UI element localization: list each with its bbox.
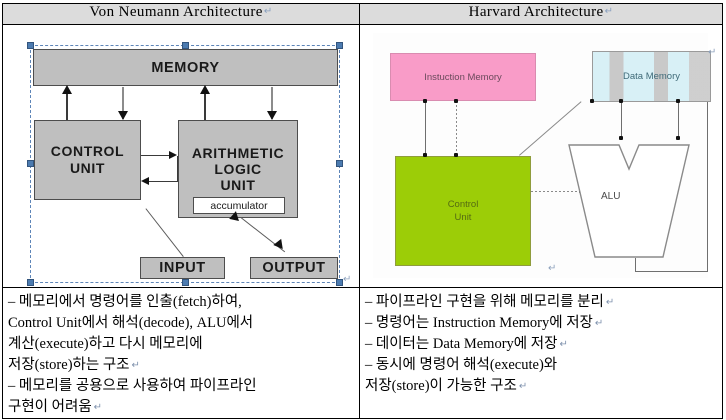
connector-dot (423, 99, 427, 103)
harvard-diagram[interactable]: Instuction Memory Data Memory Control (360, 25, 722, 286)
connector-dot (676, 99, 680, 103)
return-mark-icon: ↵ (593, 318, 603, 329)
paragraph-mark-icon: ↵ (343, 274, 351, 285)
resize-handle-nw[interactable] (27, 42, 34, 49)
control-unit-box[interactable]: Control Unit (395, 156, 531, 266)
return-mark-icon: ↵ (92, 402, 102, 413)
return-mark-icon: ↵ (517, 381, 527, 392)
description-line: – 명령어는 Instruction Memory에 저장↵ (365, 313, 718, 334)
description-text: – 메모리에서 명령어를 인출(fetch)하여, (8, 294, 242, 310)
return-mark-icon: ↵ (130, 360, 140, 371)
connector-dot (454, 153, 458, 157)
instruction-memory-box[interactable]: Instuction Memory (390, 53, 536, 101)
harvard-diagram-canvas: Instuction Memory Data Memory Control (373, 33, 708, 278)
resize-handle-se[interactable] (336, 279, 343, 286)
return-mark-icon: ↵ (557, 339, 567, 350)
description-text: 저장(store)하는 구조 (8, 357, 130, 373)
return-mark-icon (203, 339, 205, 350)
cell-von-neumann-diagram: MEMORY (3, 25, 360, 288)
bus-line-imem-to-cu-dashed (456, 101, 457, 157)
description-line: – 메모리를 공용으로 사용하여 파이프라인 (8, 376, 355, 397)
description-text: 계산(execute)하고 다시 메모리에 (8, 336, 203, 352)
header-label-von-neumann: Von Neumann Architecture (89, 4, 262, 20)
description-text: 구현이 어려움 (8, 399, 92, 415)
control-unit-label-line1: Control (448, 198, 479, 211)
resize-handle-s[interactable] (182, 279, 189, 286)
instruction-memory-label: Instuction Memory (424, 71, 502, 84)
header-label-harvard: Harvard Architecture (469, 4, 604, 20)
von-neumann-description: – 메모리에서 명령어를 인출(fetch)하여, Control Unit에서… (3, 288, 359, 418)
control-unit-label-line2: Unit (448, 211, 479, 224)
connector-dot (619, 136, 623, 140)
bus-line-dmem-feedback (707, 102, 708, 272)
paragraph-mark-icon: ↵ (548, 263, 556, 274)
return-mark-icon (557, 360, 559, 371)
description-text: – 명령어는 Instruction Memory에 저장 (365, 315, 593, 331)
description-text: – 파이프라인 구현을 위해 메모리를 분리 (365, 294, 604, 310)
return-mark-icon (257, 381, 259, 392)
return-mark-icon (253, 318, 255, 329)
description-text: Control Unit에서 해석(decode), ALU에서 (8, 315, 253, 331)
table-diagram-row: MEMORY (3, 25, 723, 288)
description-line: 저장(store)하는 구조↵ (8, 355, 355, 376)
resize-handle-n[interactable] (182, 42, 189, 49)
paragraph-mark-icon: ↵ (708, 47, 716, 58)
connector-dot (423, 153, 427, 157)
table-header-row: Von Neumann Architecture↵ Harvard Archit… (3, 4, 723, 25)
cell-harvard-diagram: Instuction Memory Data Memory Control (360, 25, 723, 288)
bus-line-alu-feedback-bottom (635, 271, 708, 272)
table-description-row: – 메모리에서 명령어를 인출(fetch)하여, Control Unit에서… (3, 288, 723, 419)
description-line: – 메모리에서 명령어를 인출(fetch)하여, (8, 292, 355, 313)
cell-harvard-description: – 파이프라인 구현을 위해 메모리를 분리↵ – 명령어는 Instructi… (360, 288, 723, 419)
connector-dot (619, 99, 623, 103)
image-selection-marquee[interactable] (30, 45, 340, 283)
description-line: – 데이터는 Data Memory에 저장↵ (365, 334, 718, 355)
cell-von-neumann-description: – 메모리에서 명령어를 인출(fetch)하여, Control Unit에서… (3, 288, 360, 419)
description-line: – 파이프라인 구현을 위해 메모리를 분리↵ (365, 292, 718, 313)
data-memory-box[interactable]: Data Memory (592, 51, 711, 102)
paragraph-mark-icon: ↵ (263, 6, 273, 17)
bus-line-imem-to-cu (425, 101, 426, 157)
harvard-description: – 파이프라인 구현을 위해 메모리를 분리↵ – 명령어는 Instructi… (360, 288, 722, 397)
description-text: – 동시에 명령어 해석(execute)와 (365, 357, 557, 373)
bus-line-dmem-to-alu-left (621, 102, 622, 139)
bus-line-dmem-to-alu-right (678, 102, 679, 139)
description-line: 계산(execute)하고 다시 메모리에 (8, 334, 355, 355)
data-memory-label: Data Memory (623, 70, 680, 83)
alu-label: ALU (601, 191, 620, 202)
connector-dot (590, 99, 594, 103)
header-cell-von-neumann: Von Neumann Architecture↵ (3, 4, 360, 25)
description-text: 저장(store)이 가능한 구조 (365, 378, 517, 394)
description-text: – 메모리를 공용으로 사용하여 파이프라인 (8, 378, 257, 394)
connector-dot (454, 99, 458, 103)
alu-shape-icon (567, 143, 691, 261)
header-cell-harvard: Harvard Architecture↵ (360, 4, 723, 25)
resize-handle-e[interactable] (336, 160, 343, 167)
connector-dot (676, 136, 680, 140)
resize-handle-w[interactable] (27, 160, 34, 167)
architecture-comparison-table: Von Neumann Architecture↵ Harvard Archit… (2, 3, 723, 419)
resize-handle-ne[interactable] (336, 42, 343, 49)
description-text: – 데이터는 Data Memory에 저장 (365, 336, 557, 352)
return-mark-icon (242, 297, 244, 308)
von-neumann-diagram[interactable]: MEMORY (3, 25, 359, 286)
description-line: 구현이 어려움↵ (8, 397, 355, 418)
description-line: – 동시에 명령어 해석(execute)와 (365, 355, 718, 376)
return-mark-icon: ↵ (604, 297, 614, 308)
description-line: Control Unit에서 해석(decode), ALU에서 (8, 313, 355, 334)
paragraph-mark-icon: ↵ (604, 6, 614, 17)
resize-handle-sw[interactable] (27, 279, 34, 286)
description-line: 저장(store)이 가능한 구조↵ (365, 376, 718, 397)
document-page: Von Neumann Architecture↵ Harvard Archit… (0, 0, 726, 420)
